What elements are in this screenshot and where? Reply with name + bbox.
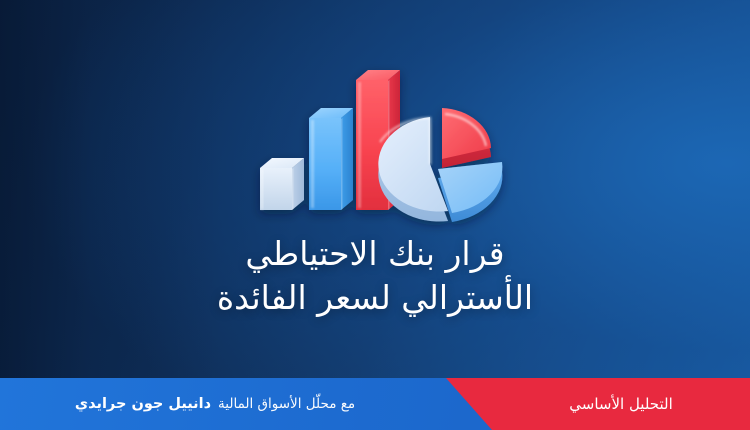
footer-analyst-name: دانييل جون جرايدي [75, 396, 211, 412]
footer-category: التحليل الأساسي [492, 378, 750, 430]
footer-with-label: مع محلّل الأسواق المالية [218, 396, 355, 412]
chart-illustration [252, 52, 508, 224]
headline-line-1: قرار بنك الاحتياطي [0, 232, 750, 276]
pie-slice-red-exploded [442, 108, 491, 168]
footer-bar: مع محلّل الأسواق المالية دانييل جون جراي… [0, 378, 750, 430]
headline: قرار بنك الاحتياطي الأسترالي لسعر الفائد… [0, 232, 750, 319]
pie-slice-blue [438, 162, 502, 222]
bar-1-pale [260, 158, 304, 210]
headline-line-2: الأسترالي لسعر الفائدة [0, 276, 750, 320]
footer-analyst-credit: مع محلّل الأسواق المالية دانييل جون جراي… [0, 378, 430, 430]
bar-2-blue [309, 108, 353, 210]
footer-category-label: التحليل الأساسي [569, 395, 673, 413]
banner-canvas: قرار بنك الاحتياطي الأسترالي لسعر الفائد… [0, 0, 750, 430]
